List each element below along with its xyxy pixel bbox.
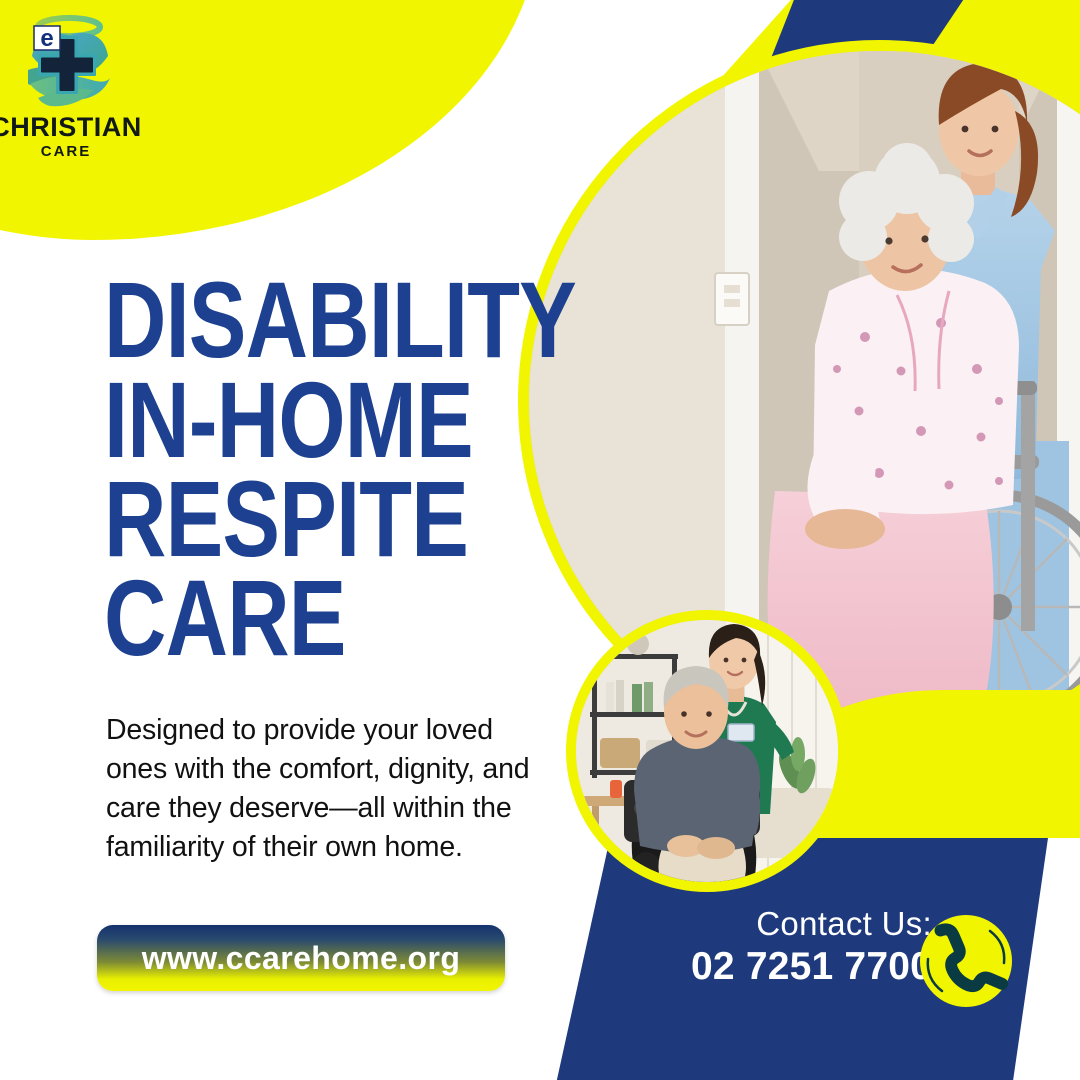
page-title: DISABILITY IN-HOME RESPITE CARE [104,270,472,667]
phone-icon [920,915,1012,1007]
e-badge-icon: e [34,25,60,52]
poster-canvas: e CHRISTIAN CARE DISABILITY IN-HOME RESP… [0,0,1080,1080]
logo-wordmark: CHRISTIAN [0,114,150,141]
brand-logo[interactable]: e CHRISTIAN CARE [0,8,152,163]
e-badge-letter: e [40,25,53,52]
inset-photo-illustration [576,620,838,882]
logo-mark-icon: e [16,12,122,118]
phone-icon-badge[interactable] [920,915,1012,1007]
contact-phone-number[interactable]: 02 7251 7700 [672,945,932,990]
contact-block: Contact Us: 02 7251 7700 [672,905,932,990]
headline-line-2: IN-HOME [104,370,472,469]
contact-label: Contact Us: [672,905,932,943]
headline-line-4: CARE [104,568,472,667]
headline-line-3: RESPITE [104,469,472,568]
inset-photo-caregiver-and-client [566,610,848,892]
logo-subtitle: CARE [0,144,150,159]
website-button-label: www.ccarehome.org [142,940,461,977]
headline-line-1: DISABILITY [104,270,472,369]
website-button[interactable]: www.ccarehome.org [97,925,505,991]
description-text: Designed to provide your loved ones with… [106,711,536,868]
